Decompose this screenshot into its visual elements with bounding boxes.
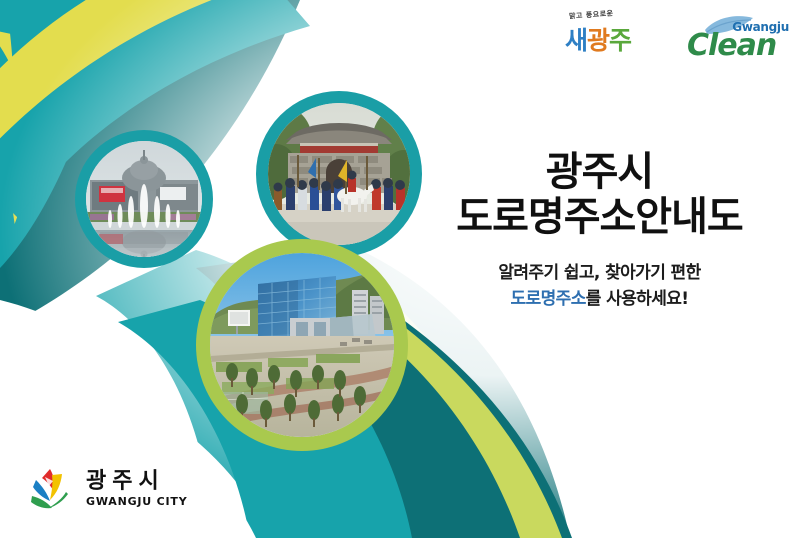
brand-logos: 맑고 풍요로운 새광주 Gwangju Clean (559, 8, 791, 66)
logo-sae-wordmark: 새광주 (565, 21, 631, 57)
city-name-en: GWANGJU CITY (86, 495, 188, 508)
page-title-line2: 도로명주소안내도 (400, 197, 799, 238)
city-logo-text: 광주시 GWANGJU CITY (86, 470, 188, 508)
city-emblem-icon (28, 466, 74, 512)
gwangju-city-logo: 광주시 GWANGJU CITY (28, 466, 188, 512)
logo-sae-part2: 광 (587, 26, 609, 55)
subtitle-highlight: 도로명주소 (511, 289, 586, 309)
logo-sae-part1: 새 (565, 26, 587, 55)
subtitle-line2-rest: 를 사용하세요! (586, 289, 689, 309)
logo-sae-tagline: 맑고 풍요로운 (569, 8, 614, 21)
subtitle-line2: 도로명주소를 사용하세요! (400, 286, 799, 312)
title-block: 광주시 도로명주소안내도 알려주기 쉽고, 찾아가기 편한 도로명주소를 사용하… (400, 152, 799, 312)
logo-clean-main: Clean (687, 28, 776, 63)
page-title-line1: 광주시 (400, 152, 799, 193)
city-name-ko: 광주시 (86, 470, 188, 493)
logo-gwangju-clean: Gwangju Clean (683, 8, 791, 66)
poster-cover: 맑고 풍요로운 새광주 Gwangju Clean 광주시 도로명주소안내도 알… (0, 0, 799, 538)
logo-sae-gwangju: 맑고 풍요로운 새광주 (559, 8, 669, 66)
logo-sae-part3: 주 (609, 26, 631, 55)
photo-cityhall (196, 239, 408, 451)
subtitle-block: 알려주기 쉽고, 찾아가기 편한 도로명주소를 사용하세요! (400, 260, 799, 313)
subtitle-line1: 알려주기 쉽고, 찾아가기 편한 (400, 260, 799, 286)
photo-fountain (75, 130, 213, 268)
